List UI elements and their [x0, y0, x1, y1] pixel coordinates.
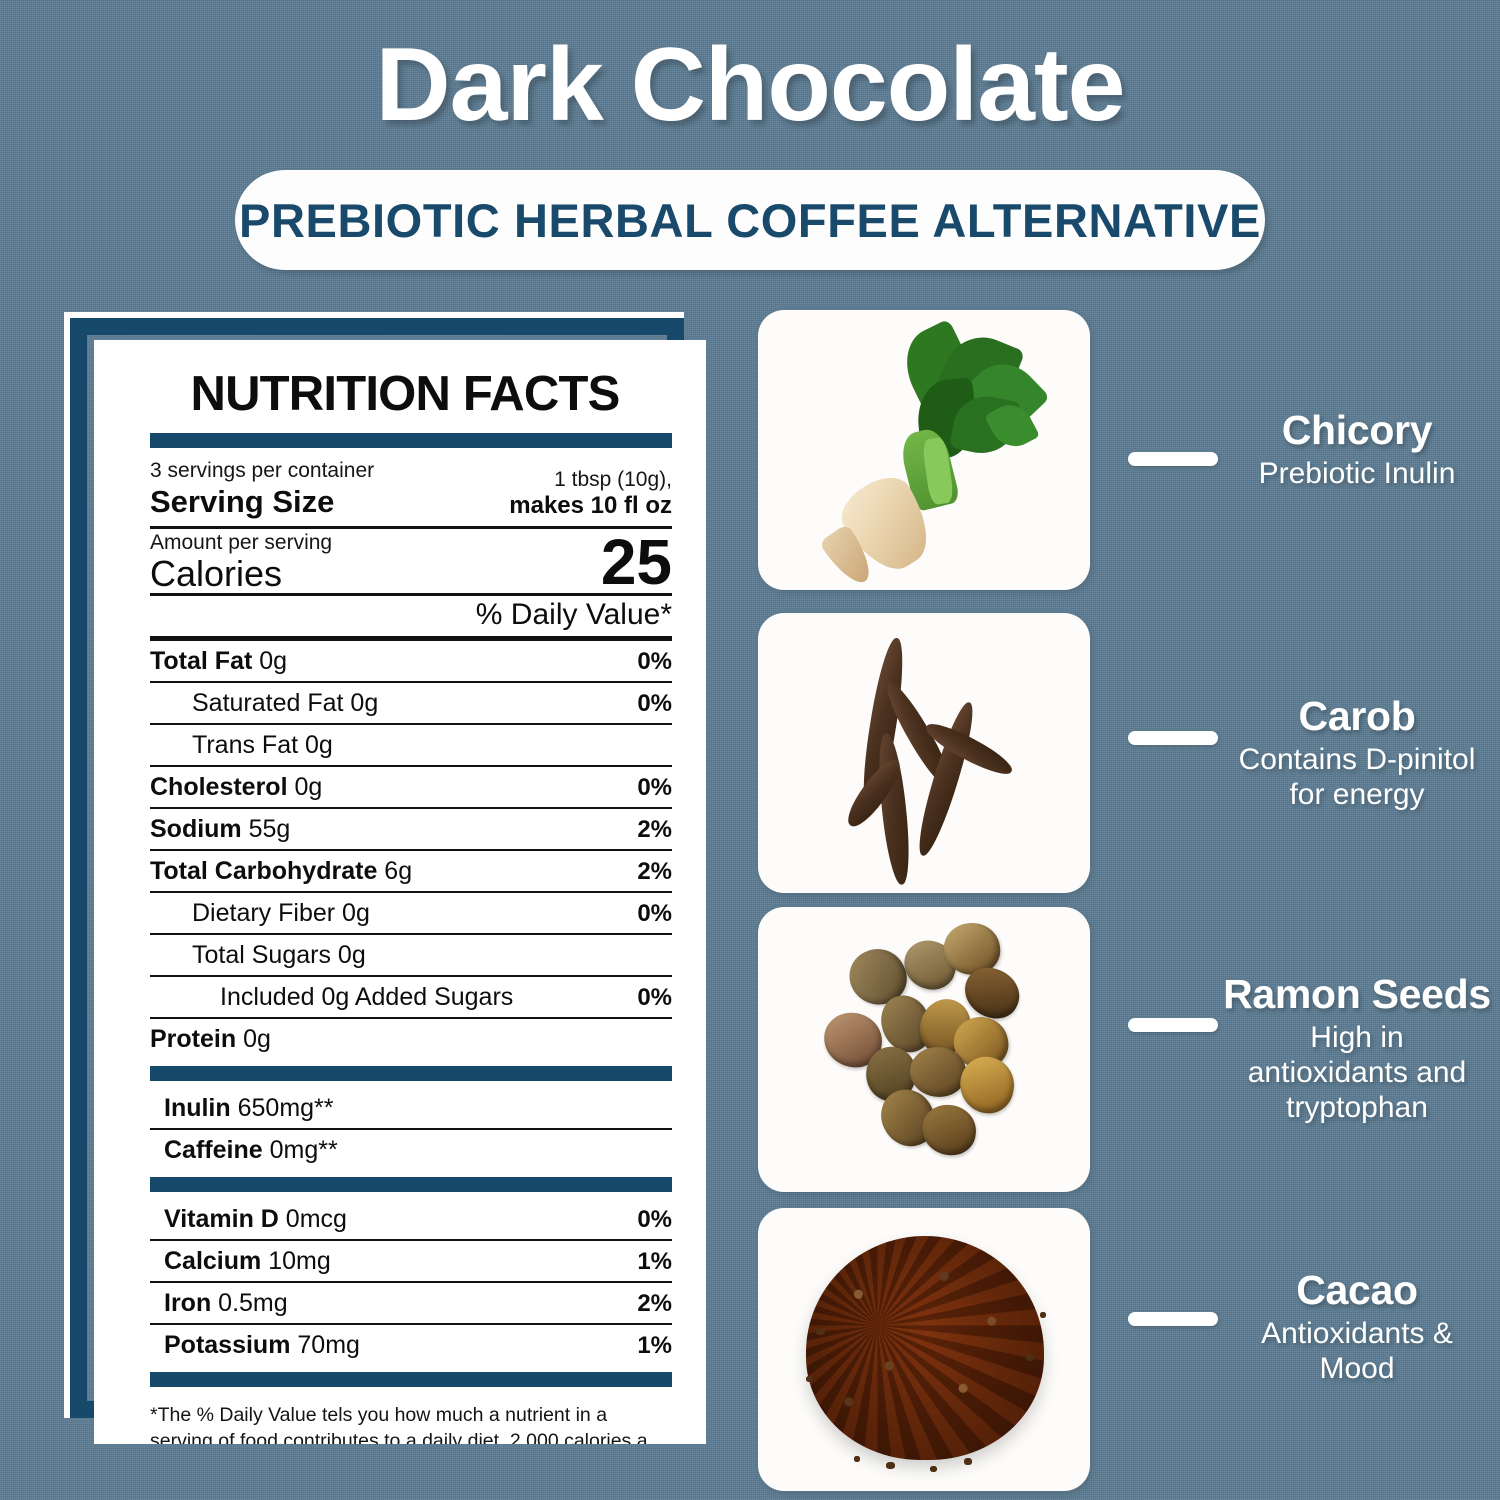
chicory-root-photo — [758, 310, 1090, 590]
special-nutrient-row-list: Inulin 650mg**Caffeine 0mg** — [150, 1088, 672, 1170]
nutrient-daily-value: 0% — [637, 984, 672, 1012]
connector-dash-carob — [1128, 731, 1218, 745]
ramon-seeds-photo-card — [758, 907, 1090, 1192]
nutrient-row: Caffeine 0mg** — [150, 1130, 672, 1170]
nutrient-label: Vitamin D 0mcg — [164, 1205, 347, 1234]
callout-name-carob: Carob — [1218, 694, 1496, 739]
cacao-photo-card — [758, 1208, 1090, 1491]
page-title: Dark Chocolate — [0, 28, 1500, 142]
nutrient-label: Inulin 650mg** — [164, 1094, 334, 1123]
nutrient-daily-value: 0% — [637, 1206, 672, 1234]
carob-pods-photo — [758, 613, 1090, 893]
nutrient-daily-value: 1% — [637, 1332, 672, 1360]
micronutrient-row-list: Vitamin D 0mcg0%Calcium 10mg1%Iron 0.5mg… — [150, 1199, 672, 1365]
callout-name-ramon-seeds: Ramon Seeds — [1218, 972, 1496, 1017]
divider-bar-special — [150, 1066, 672, 1081]
divider-bar-top — [150, 433, 672, 448]
nutrient-row: Dietary Fiber 0g0% — [150, 893, 672, 933]
serving-size-block: 3 servings per container Serving Size 1 … — [150, 456, 672, 526]
nutrient-row: Vitamin D 0mcg0% — [150, 1199, 672, 1239]
callout-ramon-seeds: Ramon Seeds High in antioxidants and try… — [1218, 972, 1496, 1125]
calories-value: 25 — [601, 532, 672, 593]
nutrient-label: Calcium 10mg — [164, 1247, 331, 1276]
nutrition-facts-panel: NUTRITION FACTS 3 servings per container… — [94, 340, 706, 1444]
nutrient-label: Total Sugars 0g — [192, 941, 366, 970]
serving-size-value-line2: makes 10 fl oz — [509, 492, 672, 520]
nutrient-row-list: Total Fat 0g0%Saturated Fat 0g0%Trans Fa… — [150, 641, 672, 1059]
nutrient-row: Total Carbohydrate 6g2% — [150, 851, 672, 891]
nutrient-row: Trans Fat 0g — [150, 725, 672, 765]
nutrient-daily-value: 2% — [637, 858, 672, 886]
daily-value-header: % Daily Value* — [150, 596, 672, 636]
cacao-granules-photo — [758, 1208, 1090, 1491]
nutrient-daily-value: 0% — [637, 774, 672, 802]
nutrient-daily-value: 1% — [637, 1248, 672, 1276]
callout-desc-carob: Contains D-pinitol for energy — [1218, 739, 1496, 812]
carob-photo-card — [758, 613, 1090, 893]
serving-size-value-line1: 1 tbsp (10g), — [509, 468, 672, 492]
nutrient-label: Dietary Fiber 0g — [192, 899, 370, 928]
connector-dash-ramon-seeds — [1128, 1018, 1218, 1032]
subtitle-pill: PREBIOTIC HERBAL COFFEE ALTERNATIVE — [235, 170, 1265, 270]
calories-label: Calories — [150, 555, 332, 593]
nutrient-daily-value: 0% — [637, 648, 672, 676]
daily-value-footnote: *The % Daily Value tels you how much a n… — [150, 1394, 672, 1444]
nutrient-label: Trans Fat 0g — [192, 731, 333, 760]
callout-name-cacao: Cacao — [1218, 1268, 1496, 1313]
nutrient-row: Protein 0g — [150, 1019, 672, 1059]
callout-desc-chicory: Prebiotic Inulin — [1218, 453, 1496, 491]
callout-carob: Carob Contains D-pinitol for energy — [1218, 694, 1496, 812]
nutrient-label: Protein 0g — [150, 1025, 271, 1054]
nutrition-facts-title: NUTRITION FACTS — [138, 366, 672, 422]
nutrient-row: Potassium 70mg1% — [150, 1325, 672, 1365]
nutrient-label: Total Fat 0g — [150, 647, 287, 676]
nutrient-daily-value: 0% — [637, 690, 672, 718]
nutrient-label: Potassium 70mg — [164, 1331, 360, 1360]
nutrient-daily-value: 0% — [637, 900, 672, 928]
nutrient-label: Total Carbohydrate 6g — [150, 857, 412, 886]
connector-dash-chicory — [1128, 452, 1218, 466]
nutrient-row: Included 0g Added Sugars0% — [150, 977, 672, 1017]
nutrient-label: Sodium 55g — [150, 815, 290, 844]
connector-dash-cacao — [1128, 1312, 1218, 1326]
nutrient-row: Sodium 55g2% — [150, 809, 672, 849]
callout-cacao: Cacao Antioxidants & Mood — [1218, 1268, 1496, 1386]
nutrient-daily-value: 2% — [637, 816, 672, 844]
nutrient-row: Iron 0.5mg2% — [150, 1283, 672, 1323]
nutrient-row: Total Sugars 0g — [150, 935, 672, 975]
subtitle-text: PREBIOTIC HERBAL COFFEE ALTERNATIVE — [239, 193, 1261, 248]
nutrient-row: Inulin 650mg** — [150, 1088, 672, 1128]
nutrient-row: Saturated Fat 0g0% — [150, 683, 672, 723]
nutrient-label: Caffeine 0mg** — [164, 1136, 338, 1165]
divider-bar-footnote — [150, 1372, 672, 1387]
calories-block: Amount per serving Calories 25 — [150, 529, 672, 593]
divider-bar-micronutrients — [150, 1177, 672, 1192]
amount-per-serving-label: Amount per serving — [150, 531, 332, 555]
callout-desc-ramon-seeds: High in antioxidants and tryptophan — [1218, 1017, 1496, 1125]
nutrient-row: Calcium 10mg1% — [150, 1241, 672, 1281]
nutrient-daily-value: 2% — [637, 1290, 672, 1318]
nutrient-label: Included 0g Added Sugars — [220, 983, 513, 1012]
serving-size-label: Serving Size — [150, 484, 374, 520]
servings-per-container: 3 servings per container — [150, 459, 374, 483]
ramon-seeds-photo — [758, 907, 1090, 1192]
nutrient-label: Iron 0.5mg — [164, 1289, 288, 1318]
nutrient-label: Saturated Fat 0g — [192, 689, 378, 718]
callout-desc-cacao: Antioxidants & Mood — [1218, 1313, 1496, 1386]
nutrient-row: Total Fat 0g0% — [150, 641, 672, 681]
callout-name-chicory: Chicory — [1218, 408, 1496, 453]
nutrient-row: Cholesterol 0g0% — [150, 767, 672, 807]
callout-chicory: Chicory Prebiotic Inulin — [1218, 408, 1496, 491]
nutrient-label: Cholesterol 0g — [150, 773, 322, 802]
chicory-photo-card — [758, 310, 1090, 590]
